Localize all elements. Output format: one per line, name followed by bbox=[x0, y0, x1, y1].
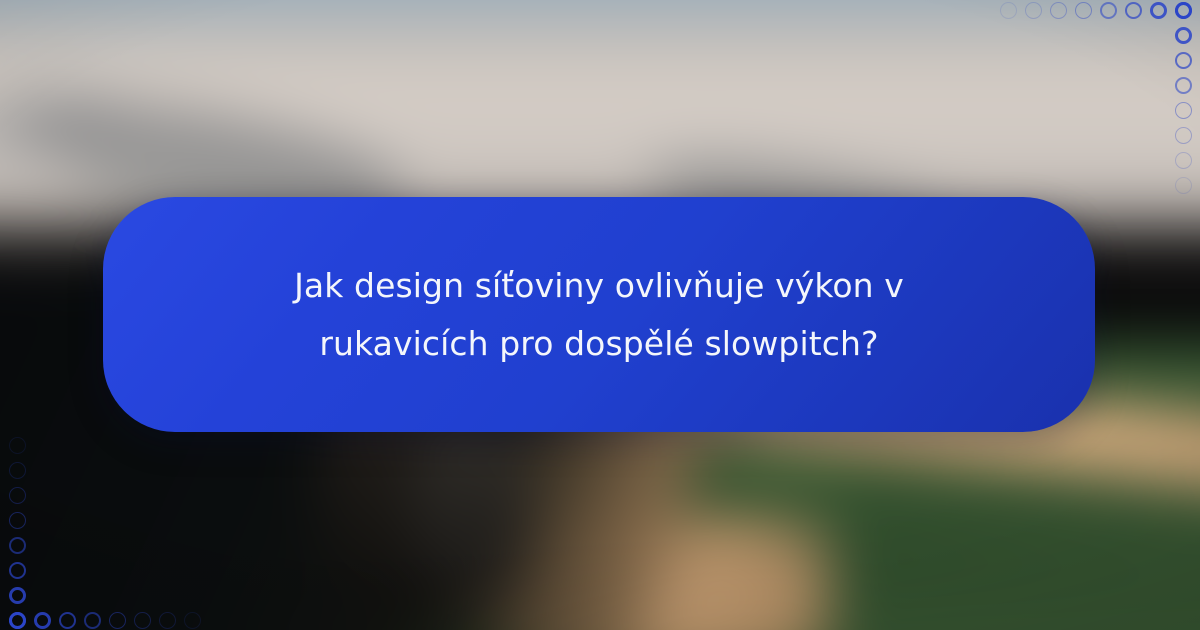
decor-dot bbox=[9, 462, 26, 479]
decor-dot bbox=[109, 612, 126, 629]
decor-dot bbox=[9, 487, 26, 504]
decor-dot bbox=[84, 612, 101, 629]
share-card-canvas: Jak design síťoviny ovlivňuje výkon v ru… bbox=[0, 0, 1200, 630]
decor-dot bbox=[9, 512, 26, 529]
decor-dot bbox=[9, 612, 26, 629]
decor-dot bbox=[184, 612, 201, 629]
decor-dot bbox=[34, 612, 51, 629]
decor-dot bbox=[9, 587, 26, 604]
decor-dot bbox=[159, 612, 176, 629]
decor-dot bbox=[134, 612, 151, 629]
headline-card: Jak design síťoviny ovlivňuje výkon v ru… bbox=[103, 197, 1095, 432]
decor-dot bbox=[9, 437, 26, 454]
decor-dot bbox=[9, 562, 26, 579]
decor-dot bbox=[59, 612, 76, 629]
page-title: Jak design síťoviny ovlivňuje výkon v ru… bbox=[259, 257, 939, 373]
decor-dot bbox=[9, 537, 26, 554]
